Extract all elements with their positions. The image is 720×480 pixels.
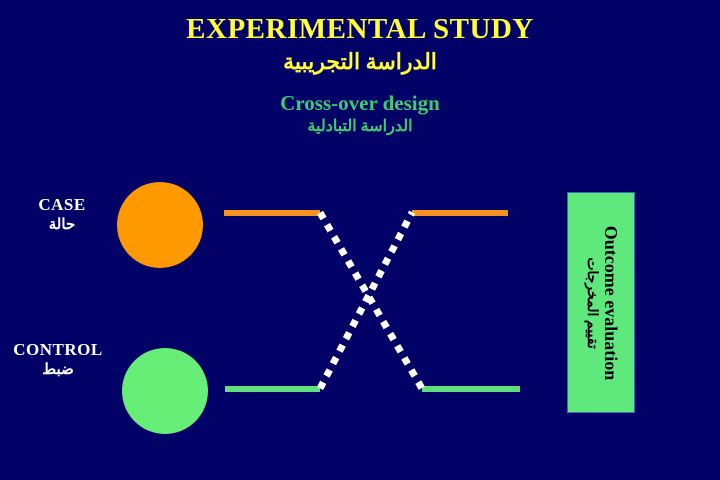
control-arm-left-segment: [225, 386, 320, 392]
page-title-arabic: الدراسة التجريبية: [0, 48, 720, 76]
outcome-evaluation-english: Outcome evaluation: [600, 193, 620, 412]
page-title: EXPERIMENTAL STUDY: [0, 14, 720, 44]
group-label-control-arabic: ضبط: [0, 361, 118, 379]
subtitle-block: Cross-over design الدراسة التبادلية: [0, 92, 720, 138]
case-arm-right-segment: [412, 210, 508, 216]
title-block: EXPERIMENTAL STUDY الدراسة التجريبية: [0, 14, 720, 76]
outcome-evaluation-arabic: تقييم المخرجات: [582, 193, 599, 412]
outcome-evaluation-text-rotated: Outcome evaluation تقييم المخرجات: [582, 193, 620, 412]
case-arm-left-segment: [224, 210, 320, 216]
group-label-case: CASE حالة: [2, 196, 122, 234]
control-arm-right-segment: [422, 386, 520, 392]
subtitle: Cross-over design: [0, 92, 720, 115]
slide-canvas: EXPERIMENTAL STUDY الدراسة التجريبية Cro…: [0, 0, 720, 480]
case-group-circle: [117, 182, 203, 268]
subtitle-arabic: الدراسة التبادلية: [0, 117, 720, 138]
group-label-case-english: CASE: [2, 196, 122, 215]
group-label-control: CONTROL ضبط: [0, 341, 118, 379]
group-label-case-arabic: حالة: [2, 216, 122, 234]
group-label-control-english: CONTROL: [0, 341, 118, 360]
control-group-circle: [122, 348, 208, 434]
outcome-evaluation-box: Outcome evaluation تقييم المخرجات: [567, 192, 635, 413]
